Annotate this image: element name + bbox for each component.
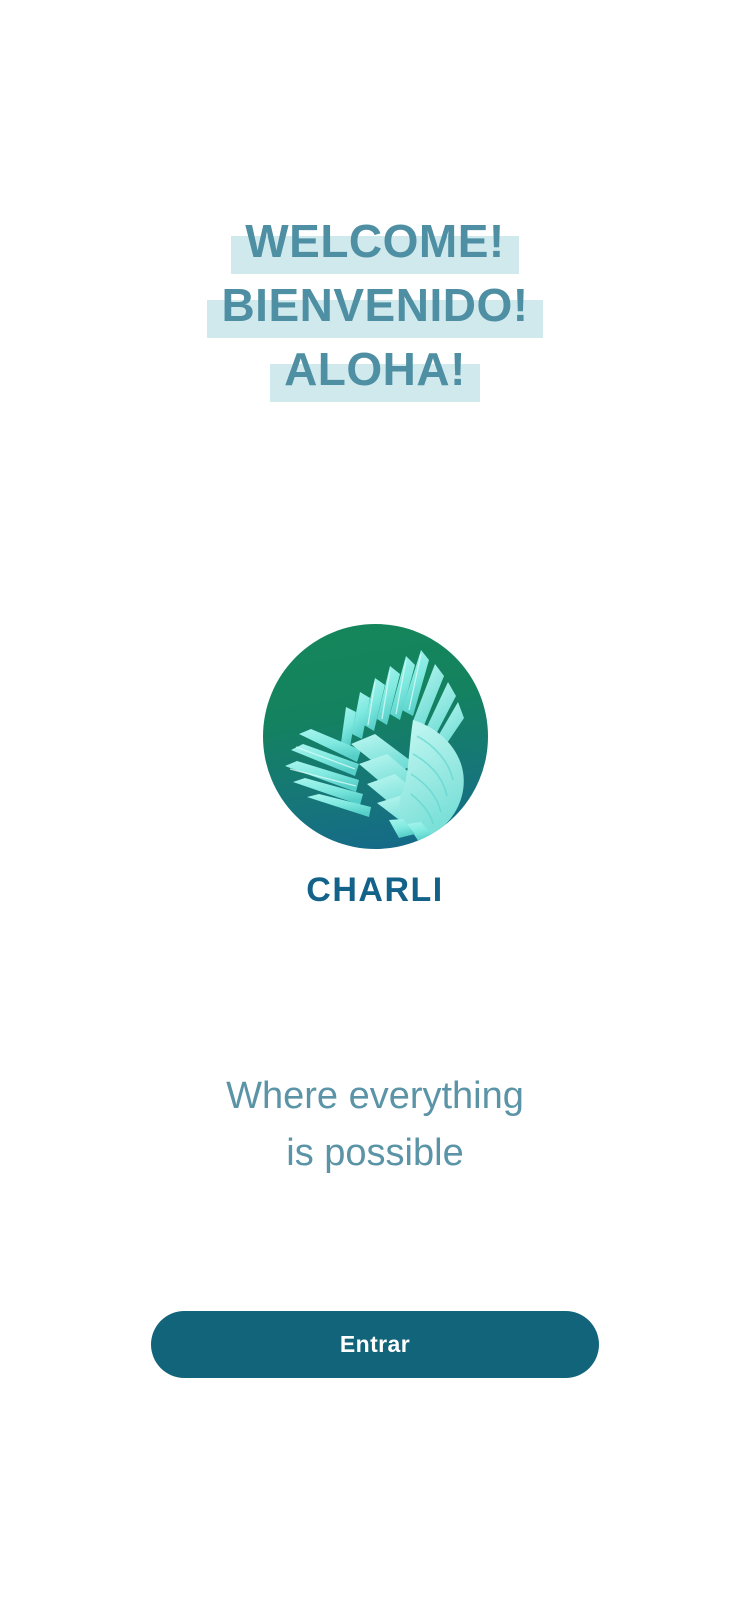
logo-block: CHARLI <box>0 624 750 910</box>
cta-wrap: Entrar <box>0 1311 750 1378</box>
tagline-line-2: is possible <box>0 1125 750 1182</box>
wing-logo-icon <box>263 624 488 849</box>
tagline-line-1: Where everything <box>0 1068 750 1125</box>
headline-text-aloha: ALOHA! <box>284 343 466 395</box>
headline-inner-bienvenido: BIENVENIDO! <box>207 282 542 328</box>
headline-block: WELCOME! BIENVENIDO! ALOHA! <box>0 218 750 392</box>
enter-button[interactable]: Entrar <box>151 1311 599 1378</box>
headline-row-aloha: ALOHA! <box>0 346 750 392</box>
headline-inner-aloha: ALOHA! <box>270 346 480 392</box>
headline-text-welcome: WELCOME! <box>245 215 505 267</box>
brand-name: CHARLI <box>0 871 750 910</box>
headline-text-bienvenido: BIENVENIDO! <box>221 279 528 331</box>
headline-row-welcome: WELCOME! <box>0 218 750 264</box>
headline-row-bienvenido: BIENVENIDO! <box>0 282 750 328</box>
welcome-screen: WELCOME! BIENVENIDO! ALOHA! <box>0 0 750 1624</box>
headline-inner-welcome: WELCOME! <box>231 218 519 264</box>
tagline: Where everything is possible <box>0 1068 750 1182</box>
